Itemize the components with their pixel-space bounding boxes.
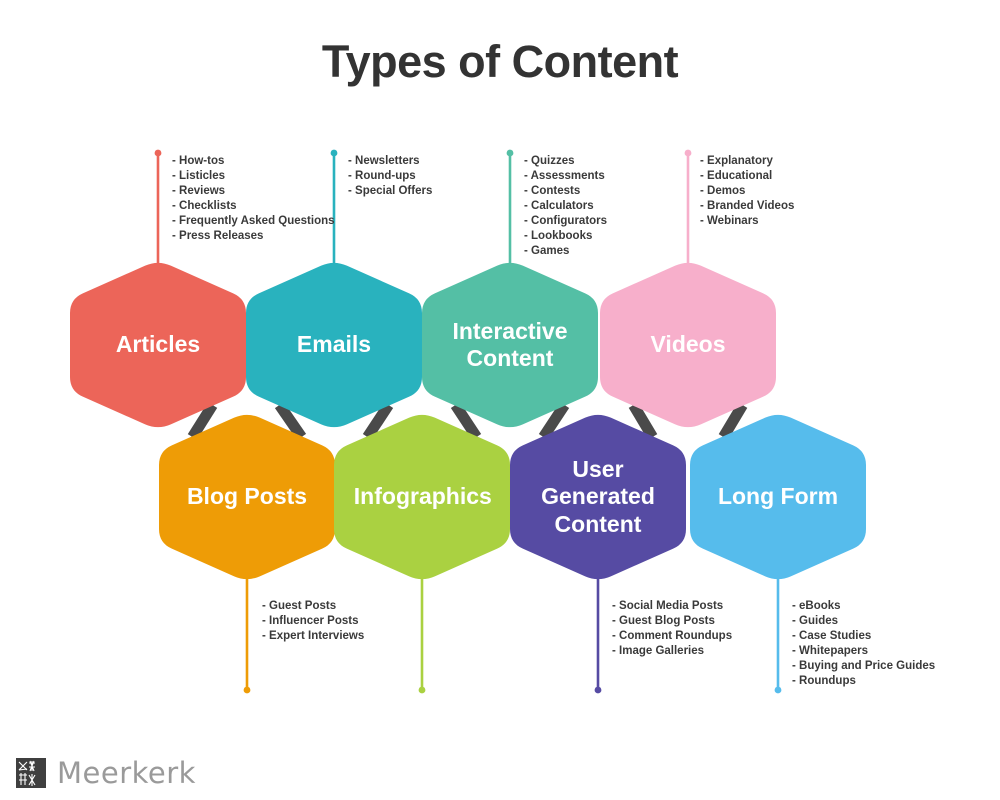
leader-dot-articles (155, 150, 162, 157)
bullet-item: - Lookbooks (524, 229, 607, 244)
bullet-item: - Frequently Asked Questions (172, 214, 335, 229)
bullet-item: - Assessments (524, 169, 607, 184)
bullet-item: - Contests (524, 184, 607, 199)
leader-dot-videos (685, 150, 692, 157)
bullet-list-emails: - Newsletters- Round-ups- Special Offers (348, 154, 432, 199)
bullet-item: - Calculators (524, 199, 607, 214)
bullet-item: - Image Galleries (612, 644, 732, 659)
hexagon-articles[interactable] (70, 263, 246, 427)
hexagon-emails[interactable] (246, 263, 422, 427)
bullet-item: - Roundups (792, 674, 935, 689)
bullet-item: - Demos (700, 184, 794, 199)
bullet-item: - Guest Blog Posts (612, 614, 732, 629)
bullet-list-user-generated-content: - Social Media Posts- Guest Blog Posts- … (612, 599, 732, 659)
bullet-item: - Newsletters (348, 154, 432, 169)
bullet-item: - Social Media Posts (612, 599, 732, 614)
leader-dot-interactive-content (507, 150, 514, 157)
leader-dot-infographics (419, 687, 426, 694)
bullet-item: - Special Offers (348, 184, 432, 199)
footer-logo: Meerkerk (16, 758, 196, 788)
bullet-item: - Guest Posts (262, 599, 364, 614)
bullet-item: - Quizzes (524, 154, 607, 169)
hexagon-infographics[interactable] (334, 415, 510, 579)
hexagon-long-form[interactable] (690, 415, 866, 579)
bullet-list-long-form: - eBooks- Guides- Case Studies- Whitepap… (792, 599, 935, 689)
bullet-item: - Case Studies (792, 629, 935, 644)
bullet-item: - Guides (792, 614, 935, 629)
meerkerk-logo-icon (16, 758, 46, 788)
bullet-item: - Educational (700, 169, 794, 184)
bullet-item: - eBooks (792, 599, 935, 614)
hexagon-interactive-content[interactable] (422, 263, 598, 427)
bullet-item: - Branded Videos (700, 199, 794, 214)
bullet-item: - Influencer Posts (262, 614, 364, 629)
bullet-item: - Checklists (172, 199, 335, 214)
bullet-item: - Comment Roundups (612, 629, 732, 644)
bullet-item: - Whitepapers (792, 644, 935, 659)
bullet-item: - Games (524, 244, 607, 259)
bullet-item: - Expert Interviews (262, 629, 364, 644)
hexagon-videos[interactable] (600, 263, 776, 427)
bullet-item: - Reviews (172, 184, 335, 199)
bullet-list-articles: - How-tos- Listicles- Reviews- Checklist… (172, 154, 335, 244)
bullet-list-videos: - Explanatory- Educational- Demos- Brand… (700, 154, 794, 229)
bullet-item: - How-tos (172, 154, 335, 169)
infographic-canvas: Types of Content ArticlesEmailsInteracti… (0, 0, 1000, 800)
bullet-list-interactive-content: - Quizzes- Assessments- Contests- Calcul… (524, 154, 607, 259)
bullet-item: - Webinars (700, 214, 794, 229)
bullet-list-blog-posts: - Guest Posts- Influencer Posts- Expert … (262, 599, 364, 644)
bullet-item: - Press Releases (172, 229, 335, 244)
hexagon-blog-posts[interactable] (159, 415, 335, 579)
leader-dot-blog-posts (244, 687, 251, 694)
bullet-item: - Round-ups (348, 169, 432, 184)
hexagon-user-generated-content[interactable] (510, 415, 686, 579)
leader-dot-long-form (775, 687, 782, 694)
bullet-item: - Configurators (524, 214, 607, 229)
leader-dot-user-generated-content (595, 687, 602, 694)
brand-name: Meerkerk (57, 759, 196, 788)
bullet-item: - Listicles (172, 169, 335, 184)
bullet-item: - Explanatory (700, 154, 794, 169)
bullet-item: - Buying and Price Guides (792, 659, 935, 674)
